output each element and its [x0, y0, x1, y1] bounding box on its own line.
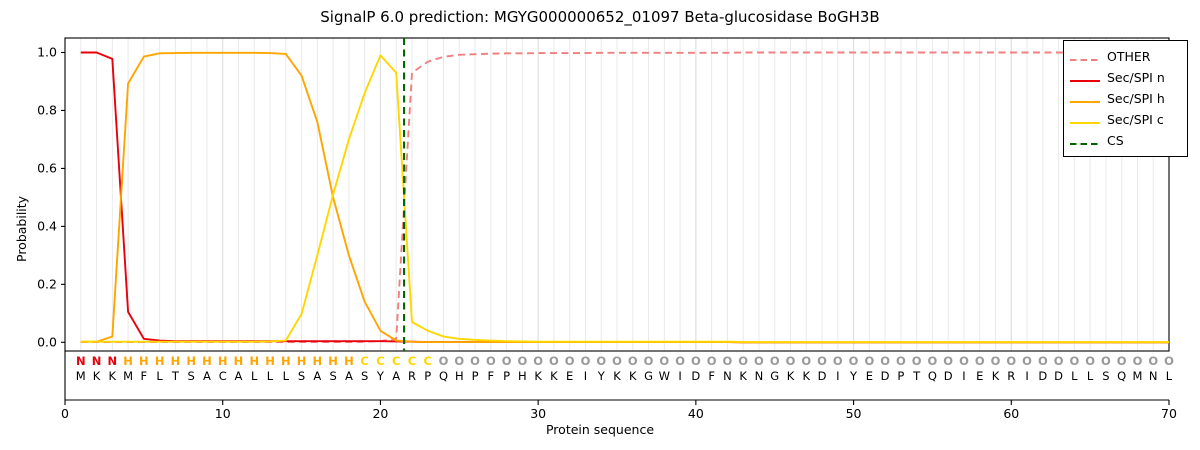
- region-label-65: O: [1085, 354, 1095, 368]
- region-label-8: H: [186, 354, 196, 368]
- region-label-5: H: [139, 354, 149, 368]
- region-label-30: O: [533, 354, 543, 368]
- region-label-62: O: [1038, 354, 1048, 368]
- sequence-residue-67: Q: [1117, 369, 1126, 383]
- sequence-residue-19: S: [361, 369, 368, 383]
- sequence-residue-57: I: [962, 369, 965, 383]
- region-label-67: O: [1117, 354, 1127, 368]
- region-label-28: O: [502, 354, 512, 368]
- region-label-17: H: [328, 354, 338, 368]
- sequence-residue-6: L: [156, 369, 162, 383]
- sequence-residue-35: K: [613, 369, 621, 383]
- series-line-other: [81, 52, 1169, 342]
- region-label-13: H: [265, 354, 275, 368]
- sequence-residue-41: F: [708, 369, 715, 383]
- sequence-residue-50: Y: [850, 369, 857, 383]
- sequence-residue-10: C: [219, 369, 227, 383]
- sequence-residue-38: W: [659, 369, 670, 383]
- sequence-residue-62: D: [1038, 369, 1047, 383]
- region-label-21: C: [392, 354, 400, 368]
- region-label-4: H: [123, 354, 133, 368]
- sequence-residue-30: K: [534, 369, 542, 383]
- sequence-residue-61: I: [1025, 369, 1028, 383]
- region-label-19: C: [360, 354, 368, 368]
- sequence-residue-40: D: [691, 369, 700, 383]
- region-label-42: O: [723, 354, 733, 368]
- sequence-residue-39: I: [678, 369, 681, 383]
- sequence-residue-32: E: [566, 369, 573, 383]
- region-label-56: O: [943, 354, 953, 368]
- sequence-residue-25: H: [455, 369, 464, 383]
- region-label-15: H: [297, 354, 307, 368]
- region-label-40: O: [691, 354, 701, 368]
- sequence-residue-24: Q: [439, 369, 448, 383]
- region-label-70: O: [1164, 354, 1174, 368]
- region-label-32: O: [565, 354, 575, 368]
- legend-swatch-icon: [1070, 93, 1100, 105]
- legend-item-label: Sec/SPI n: [1107, 70, 1165, 85]
- sequence-residue-42: N: [723, 369, 732, 383]
- sequence-residue-8: S: [188, 369, 195, 383]
- region-label-23: C: [424, 354, 432, 368]
- sequence-residue-65: L: [1087, 369, 1093, 383]
- legend-item-label: Sec/SPI c: [1107, 112, 1164, 127]
- sequence-residue-46: K: [787, 369, 795, 383]
- region-label-7: H: [171, 354, 181, 368]
- sequence-residue-31: K: [550, 369, 558, 383]
- sequence-residue-3: K: [109, 369, 117, 383]
- sequence-residue-59: K: [992, 369, 1000, 383]
- sequence-residue-11: A: [235, 369, 243, 383]
- region-label-31: O: [549, 354, 559, 368]
- legend-item-sec-spi-c[interactable]: Sec/SPI c: [1064, 109, 1183, 130]
- region-label-10: H: [218, 354, 228, 368]
- region-label-54: O: [912, 354, 922, 368]
- region-label-53: O: [896, 354, 906, 368]
- legend-item-label: CS: [1107, 133, 1124, 148]
- region-label-57: O: [959, 354, 969, 368]
- region-label-39: O: [675, 354, 685, 368]
- region-label-16: H: [313, 354, 323, 368]
- region-label-26: O: [470, 354, 480, 368]
- region-label-61: O: [1022, 354, 1032, 368]
- legend-item-sec-spi-n[interactable]: Sec/SPI n: [1064, 67, 1183, 88]
- sequence-residue-43: K: [739, 369, 747, 383]
- sequence-residue-33: I: [584, 369, 587, 383]
- sequence-residue-56: D: [944, 369, 953, 383]
- sequence-residue-45: G: [770, 369, 779, 383]
- region-label-58: O: [975, 354, 985, 368]
- sequence-residue-68: M: [1132, 369, 1142, 383]
- region-label-11: H: [234, 354, 244, 368]
- region-label-50: O: [849, 354, 859, 368]
- region-label-51: O: [864, 354, 874, 368]
- region-label-48: O: [817, 354, 827, 368]
- region-label-66: O: [1101, 354, 1111, 368]
- chart-legend: OTHERSec/SPI nSec/SPI hSec/SPI cCS: [1063, 40, 1188, 157]
- sequence-residue-66: S: [1102, 369, 1109, 383]
- region-label-64: O: [1069, 354, 1079, 368]
- sequence-residue-48: D: [818, 369, 827, 383]
- region-label-68: O: [1133, 354, 1143, 368]
- sequence-residue-47: K: [802, 369, 810, 383]
- region-label-1: N: [76, 354, 86, 368]
- sequence-residue-1: M: [76, 369, 86, 383]
- sequence-residue-49: I: [836, 369, 839, 383]
- legend-item-label: OTHER: [1107, 49, 1150, 64]
- legend-swatch-icon: [1070, 51, 1100, 63]
- sequence-residue-2: K: [93, 369, 101, 383]
- legend-swatch-icon: [1070, 72, 1100, 84]
- legend-item-cs[interactable]: CS: [1064, 130, 1183, 151]
- sequence-residue-28: P: [503, 369, 510, 383]
- sequence-residue-60: R: [1007, 369, 1015, 383]
- sequence-residue-22: R: [408, 369, 416, 383]
- sequence-residue-34: Y: [598, 369, 605, 383]
- sequence-residue-5: F: [141, 369, 148, 383]
- region-label-60: O: [1006, 354, 1016, 368]
- sequence-residue-64: L: [1071, 369, 1077, 383]
- region-label-49: O: [833, 354, 843, 368]
- legend-swatch-icon: [1070, 114, 1100, 126]
- sequence-residue-37: G: [644, 369, 653, 383]
- sequence-residue-16: A: [313, 369, 321, 383]
- series-line-sec-spi-h: [81, 53, 1169, 343]
- region-label-55: O: [928, 354, 938, 368]
- series-line-sec-spi-c: [81, 55, 1169, 342]
- region-label-35: O: [612, 354, 622, 368]
- sequence-residue-69: N: [1149, 369, 1158, 383]
- sequence-residue-7: T: [172, 369, 179, 383]
- sequence-residue-12: L: [251, 369, 257, 383]
- region-label-25: O: [454, 354, 464, 368]
- region-label-37: O: [644, 354, 654, 368]
- region-label-34: O: [596, 354, 606, 368]
- region-label-46: O: [786, 354, 796, 368]
- sequence-residue-51: E: [866, 369, 873, 383]
- sequence-residue-23: P: [424, 369, 431, 383]
- region-label-18: H: [344, 354, 354, 368]
- region-label-24: O: [439, 354, 449, 368]
- region-label-33: O: [581, 354, 591, 368]
- sequence-residue-58: E: [976, 369, 983, 383]
- region-label-22: C: [408, 354, 416, 368]
- sequence-residue-14: L: [283, 369, 289, 383]
- sequence-residue-29: H: [518, 369, 527, 383]
- sequence-residue-20: Y: [377, 369, 384, 383]
- sequence-residue-9: A: [203, 369, 211, 383]
- sequence-residue-36: K: [629, 369, 637, 383]
- sequence-residue-4: M: [123, 369, 133, 383]
- region-label-47: O: [801, 354, 811, 368]
- sequence-residue-55: Q: [928, 369, 937, 383]
- sequence-residue-18: A: [345, 369, 353, 383]
- region-label-41: O: [707, 354, 717, 368]
- sequence-residue-70: L: [1166, 369, 1172, 383]
- region-label-45: O: [770, 354, 780, 368]
- sequence-residue-21: A: [392, 369, 400, 383]
- sequence-residue-53: P: [897, 369, 904, 383]
- region-label-20: C: [376, 354, 384, 368]
- legend-swatch-icon: [1070, 135, 1100, 147]
- region-label-52: O: [880, 354, 890, 368]
- region-label-2: N: [92, 354, 102, 368]
- sequence-residue-13: L: [267, 369, 273, 383]
- region-label-14: H: [281, 354, 291, 368]
- region-label-63: O: [1054, 354, 1064, 368]
- region-label-36: O: [628, 354, 638, 368]
- region-label-6: H: [155, 354, 165, 368]
- region-label-44: O: [754, 354, 764, 368]
- legend-item-other[interactable]: OTHER: [1064, 46, 1183, 67]
- region-label-3: N: [108, 354, 118, 368]
- sequence-residue-52: D: [881, 369, 890, 383]
- region-label-38: O: [659, 354, 669, 368]
- region-label-69: O: [1148, 354, 1158, 368]
- region-label-27: O: [486, 354, 496, 368]
- region-label-12: H: [249, 354, 259, 368]
- series-line-sec-spi-n: [81, 52, 1169, 342]
- sequence-residue-17: S: [329, 369, 336, 383]
- sequence-residue-27: F: [488, 369, 495, 383]
- region-label-59: O: [991, 354, 1001, 368]
- sequence-residue-15: S: [298, 369, 305, 383]
- region-label-43: O: [738, 354, 748, 368]
- sequence-residue-44: N: [755, 369, 764, 383]
- region-label-9: H: [202, 354, 212, 368]
- sequence-residue-54: T: [913, 369, 920, 383]
- sequence-residue-26: P: [472, 369, 479, 383]
- sequence-residue-63: D: [1054, 369, 1063, 383]
- legend-item-label: Sec/SPI h: [1107, 91, 1165, 106]
- legend-item-sec-spi-h[interactable]: Sec/SPI h: [1064, 88, 1183, 109]
- signalp-prediction-figure: SignalP 6.0 prediction: MGYG000000652_01…: [0, 0, 1200, 450]
- region-label-29: O: [517, 354, 527, 368]
